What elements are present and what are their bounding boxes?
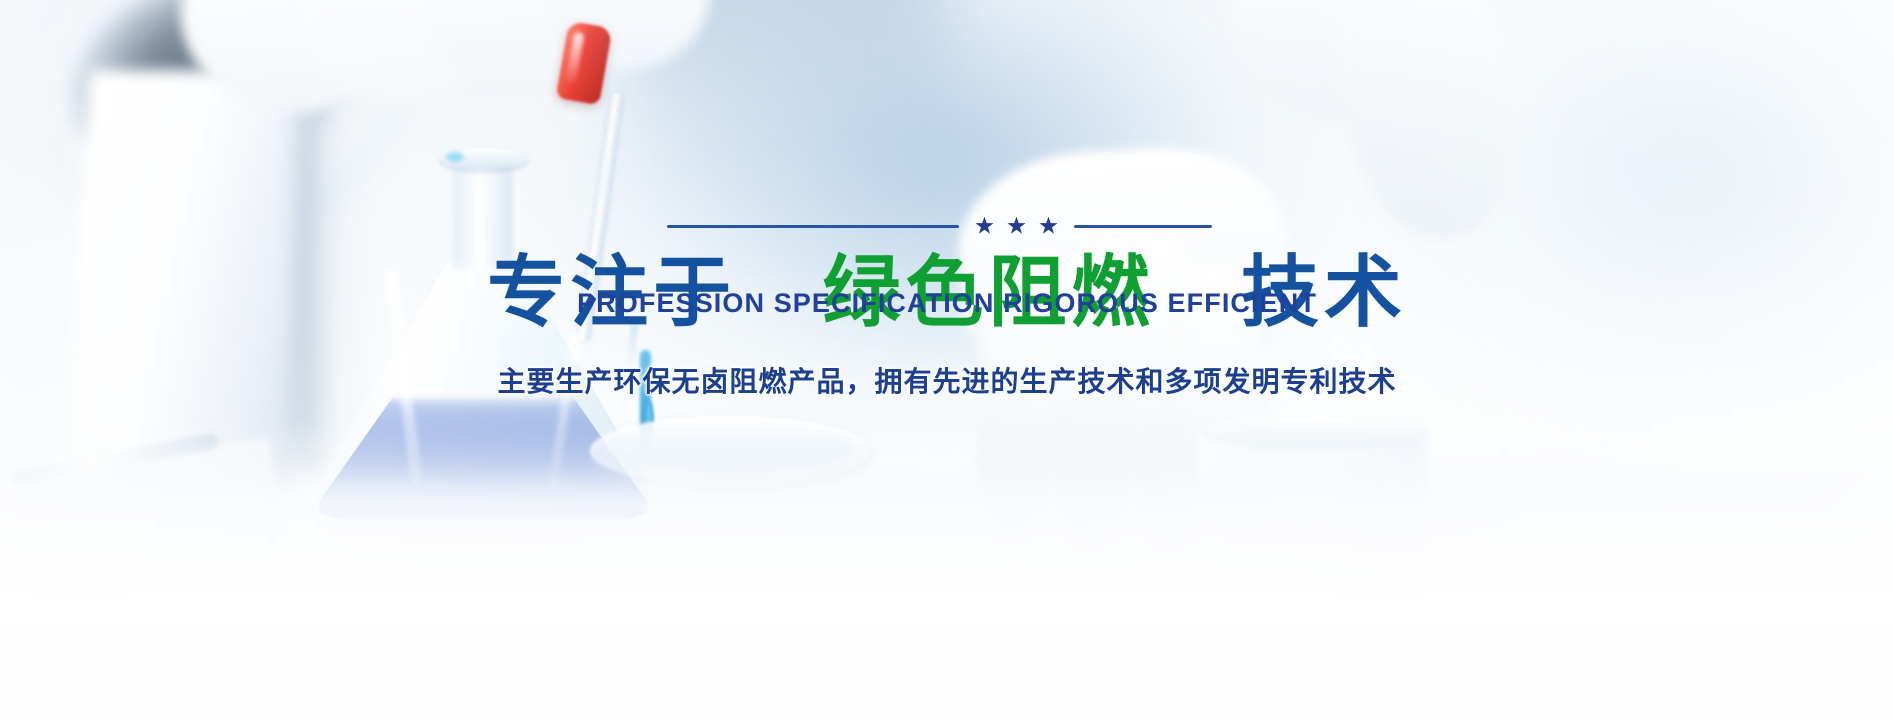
banner-description: 主要生产环保无卤阻燃产品，拥有先进的生产技术和多项发明专利技术: [497, 360, 1396, 400]
divider-line-right: [1074, 225, 1212, 228]
star-icon: [1007, 217, 1026, 236]
divider-line-left: [667, 225, 959, 228]
star-group: [959, 217, 1074, 236]
banner-content: 专注于 绿色阻燃 技术 PROFESSION SPECIFICATION RIG…: [0, 0, 1894, 719]
title-divider: [667, 216, 1227, 236]
hero-banner: 专注于 绿色阻燃 技术 PROFESSION SPECIFICATION RIG…: [0, 0, 1894, 719]
banner-subtitle: PROFESSION SPECIFICATION RIGOROUS EFFICI…: [577, 288, 1317, 319]
star-icon: [975, 217, 994, 236]
star-icon: [1039, 217, 1058, 236]
